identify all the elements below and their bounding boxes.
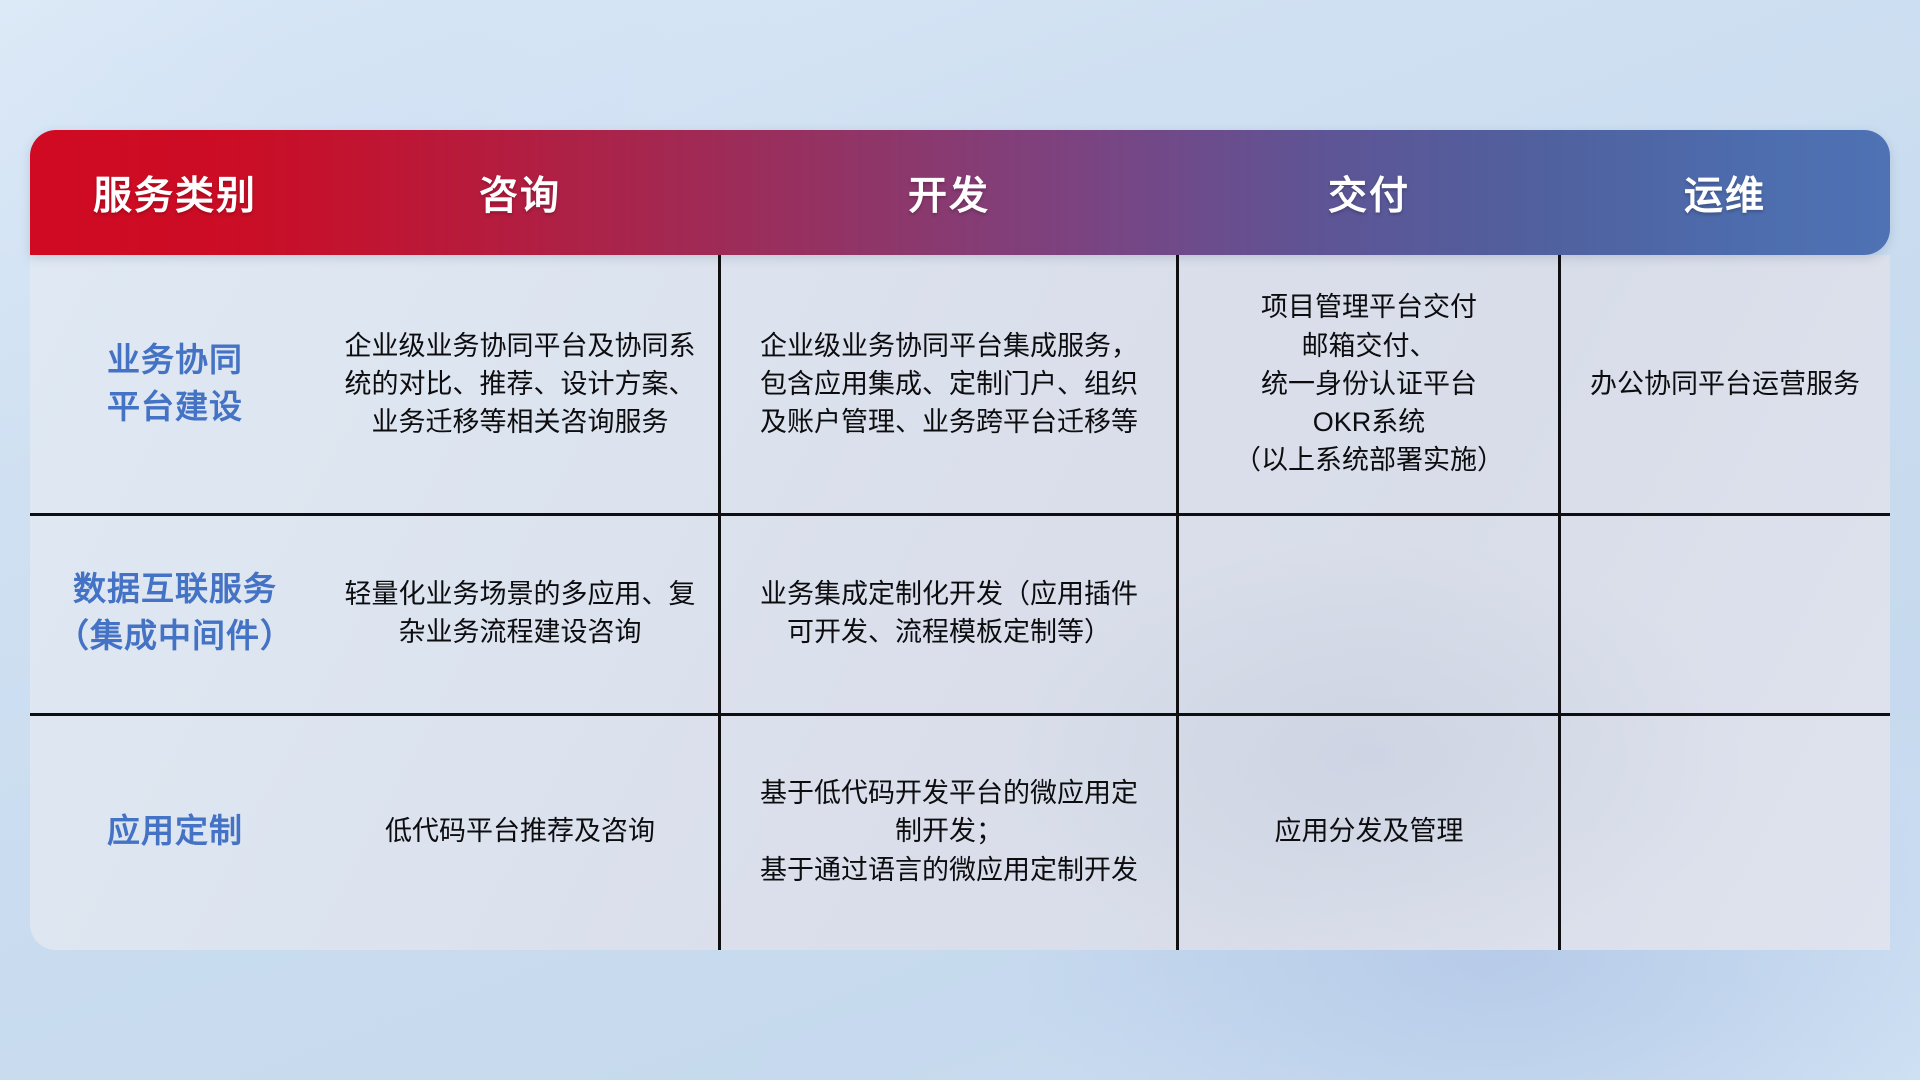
- row-category-label: 业务协同 平台建设: [30, 337, 320, 431]
- table-body: 业务协同 平台建设 企业级业务协同平台及协同系 统的对比、推荐、设计方案、 业务…: [30, 255, 1890, 950]
- cell-operations: 办公协同平台运营服务: [1560, 365, 1890, 403]
- row-category-label: 应用定制: [30, 808, 320, 855]
- header-cell-development: 开发: [720, 165, 1178, 221]
- column-divider: [1176, 255, 1179, 950]
- cell-consulting: 低代码平台推荐及咨询: [320, 812, 720, 850]
- cell-consulting: 企业级业务协同平台及协同系 统的对比、推荐、设计方案、 业务迁移等相关咨询服务: [320, 327, 720, 442]
- table-row: 数据互联服务 （集成中间件） 轻量化业务场景的多应用、复 杂业务流程建设咨询 业…: [30, 513, 1890, 713]
- slide-canvas: 服务类别 咨询 开发 交付 运维 业务协同 平台建设 企业级业务协同平台及协同系…: [0, 0, 1920, 1080]
- cell-delivery: 项目管理平台交付 邮箱交付、 统一身份认证平台 OKR系统 （以上系统部署实施）: [1178, 288, 1560, 480]
- header-cell-operations: 运维: [1560, 165, 1890, 221]
- table-header-row: 服务类别 咨询 开发 交付 运维: [30, 130, 1890, 255]
- row-divider: [30, 513, 1890, 516]
- cell-development: 基于低代码开发平台的微应用定 制开发； 基于通过语言的微应用定制开发: [720, 774, 1178, 889]
- column-divider: [1558, 255, 1561, 950]
- cell-consulting: 轻量化业务场景的多应用、复 杂业务流程建设咨询: [320, 575, 720, 652]
- service-matrix-table: 服务类别 咨询 开发 交付 运维 业务协同 平台建设 企业级业务协同平台及协同系…: [30, 130, 1890, 950]
- table-row: 应用定制 低代码平台推荐及咨询 基于低代码开发平台的微应用定 制开发； 基于通过…: [30, 713, 1890, 950]
- header-cell-consulting: 咨询: [320, 165, 720, 221]
- row-category-label: 数据互联服务 （集成中间件）: [30, 566, 320, 660]
- header-cell-delivery: 交付: [1178, 165, 1560, 221]
- column-divider: [718, 255, 721, 950]
- table-row: 业务协同 平台建设 企业级业务协同平台及协同系 统的对比、推荐、设计方案、 业务…: [30, 255, 1890, 513]
- header-cell-service-category: 服务类别: [30, 165, 320, 221]
- cell-development: 企业级业务协同平台集成服务， 包含应用集成、定制门户、组织 及账户管理、业务跨平…: [720, 327, 1178, 442]
- row-divider: [30, 713, 1890, 716]
- cell-development: 业务集成定制化开发（应用插件 可开发、流程模板定制等）: [720, 575, 1178, 652]
- cell-delivery: 应用分发及管理: [1178, 812, 1560, 850]
